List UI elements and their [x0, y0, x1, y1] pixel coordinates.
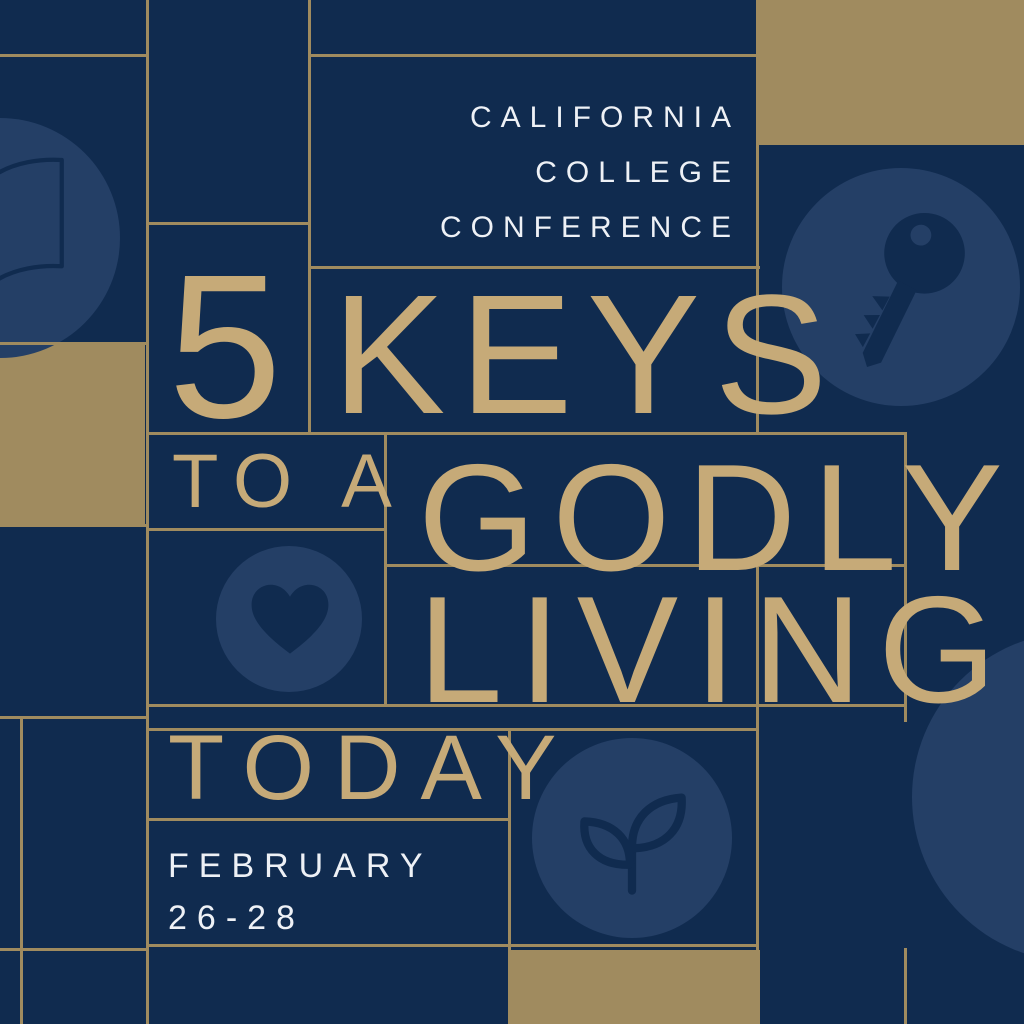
grid-line-v1: [20, 716, 23, 1024]
poster-canvas: CALIFORNIA COLLEGE CONFERENCE 5 KEYS TO …: [0, 0, 1024, 1024]
grid-line-h2: [310, 54, 1024, 57]
gold-block-left: [0, 344, 145, 526]
grid-line-h5: [758, 142, 1024, 145]
kicker-line-1: CALIFORNIA: [300, 90, 740, 145]
open-book-icon: [0, 140, 78, 300]
headline-word-living: LIVING: [418, 574, 1012, 726]
heart-icon: [248, 580, 332, 660]
grid-line-h15: [146, 944, 758, 947]
date-month: FEBRUARY: [168, 840, 433, 892]
grid-line-h8: [0, 524, 146, 527]
grid-line-h6: [0, 342, 146, 345]
kicker-line-3: CONFERENCE: [300, 200, 740, 255]
gold-block-bottom: [510, 950, 760, 1024]
headline-number: 5: [168, 244, 282, 449]
headline-connector: TO A: [172, 444, 408, 520]
grid-line-h3: [146, 222, 310, 225]
grid-line-h9: [146, 528, 386, 531]
key-icon: [830, 190, 980, 390]
headline-word-keys: KEYS: [332, 270, 842, 440]
sprout-icon: [566, 780, 698, 900]
gold-block-top-right: [758, 0, 1024, 142]
grid-line-v2: [146, 0, 149, 1024]
grid-line-h1: [0, 54, 146, 57]
date-days: 26-28: [168, 892, 305, 944]
headline-word-today: TODAY: [168, 722, 576, 814]
kicker-line-2: COLLEGE: [300, 145, 740, 200]
grid-line-v9: [904, 948, 907, 1024]
